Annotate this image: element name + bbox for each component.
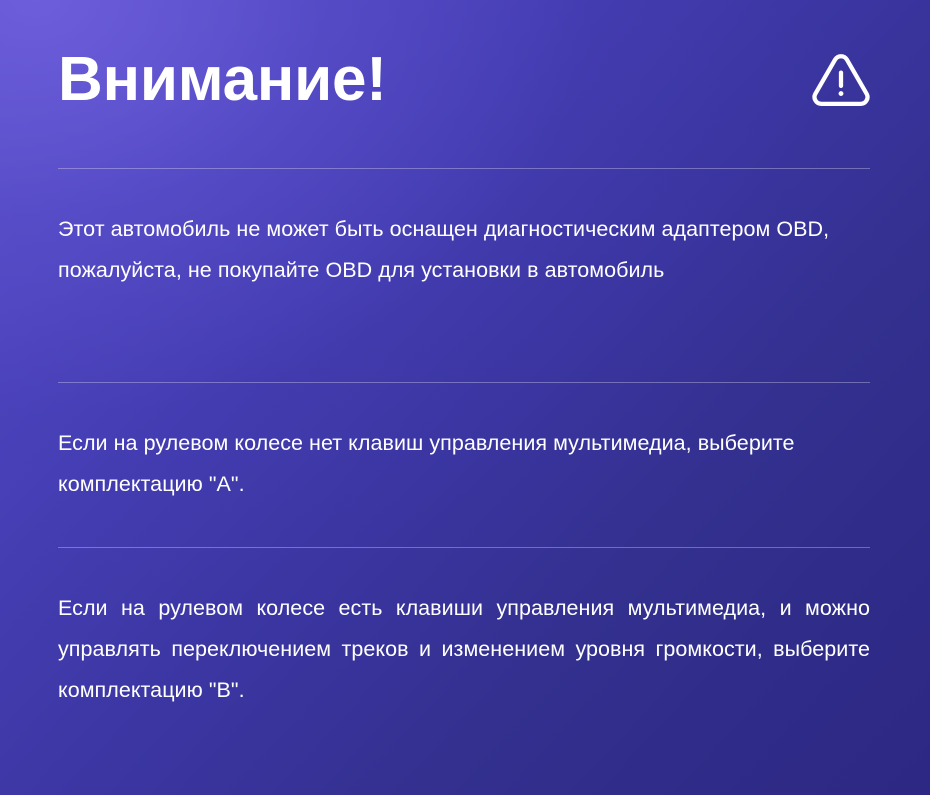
notice-text-variant-b: Если на рулевом колесе есть клавиши упра… bbox=[58, 588, 870, 711]
divider-2 bbox=[58, 382, 870, 383]
notice-block-obd-warning: Этот автомобиль не может быть оснащен ди… bbox=[58, 209, 874, 291]
notice-text-obd-warning: Этот автомобиль не может быть оснащен ди… bbox=[58, 209, 874, 291]
divider-3 bbox=[58, 547, 870, 548]
notice-text-variant-a: Если на рулевом колесе нет клавиш управл… bbox=[58, 423, 874, 505]
page-title: Внимание! bbox=[58, 49, 387, 117]
warning-triangle-icon bbox=[810, 50, 872, 112]
notice-block-variant-a: Если на рулевом колесе нет клавиш управл… bbox=[58, 423, 874, 505]
notice-header: Внимание! bbox=[0, 0, 930, 166]
divider-1 bbox=[58, 168, 870, 169]
notice-block-variant-b: Если на рулевом колесе есть клавиши упра… bbox=[58, 588, 874, 711]
warning-notice-panel: Внимание! Этот автомобиль не может быть … bbox=[0, 0, 930, 795]
